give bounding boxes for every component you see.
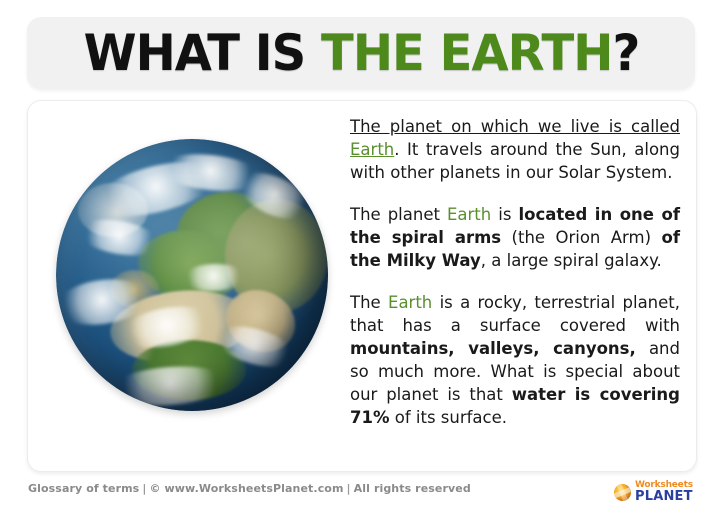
logo-wordmark: Worksheets PLANET [635,480,693,504]
page-title-part-green: THE EARTH [321,24,612,82]
footer-credits: Glossary of terms|© www.WorksheetsPlanet… [28,482,471,495]
text-run: The planet on which we live is called [350,117,680,136]
content-panel: The planet on which we live is called Ea… [27,100,697,472]
text-run: (the Orion Arm) [501,228,661,247]
text-run: The [350,293,388,312]
page-title-question-mark: ? [612,24,639,82]
logo-word-planet: PLANET [635,490,693,504]
paragraph-surface: The Earth is a rocky, terrestrial planet… [350,291,680,429]
text-run: The planet [350,205,447,224]
page-title: WHAT IS THE EARTH? [83,28,639,78]
globe-shading-layer [56,139,328,411]
text-run: Earth [350,140,394,159]
footer-glossary-label: Glossary of terms [28,482,139,495]
text-run: of its surface. [390,408,508,427]
earth-illustration [28,101,338,471]
footer-copyright-icon: © [149,482,160,495]
header-panel: WHAT IS THE EARTH? [27,17,695,89]
worksheet-page: WHAT IS THE EARTH? [0,0,720,509]
paragraph-definition: The planet on which we live is called Ea… [350,115,680,184]
text-run: Earth [447,205,491,224]
paragraph-location: The planet Earth is located in one of th… [350,203,680,272]
text-run: mountains, valleys, canyons, [350,339,636,358]
pinwheel-ball-icon [614,484,631,501]
text-run: is [491,205,518,224]
footer-website-link[interactable]: www.WorksheetsPlanet.com [165,482,344,495]
text-run: . It travels around the Sun, along with … [350,140,680,182]
footer: Glossary of terms|© www.WorksheetsPlanet… [0,474,720,509]
earth-globe-icon [56,139,328,411]
text-run: , a large spiral galaxy. [481,251,662,270]
text-run: Earth [388,293,432,312]
footer-separator-1: | [139,482,149,495]
page-title-part-1: WHAT IS [83,24,320,82]
footer-rights-label: All rights reserved [354,482,471,495]
worksheets-planet-logo[interactable]: Worksheets PLANET [614,479,706,505]
definition-text-column: The planet on which we live is called Ea… [350,115,680,429]
footer-separator-2: | [344,482,354,495]
